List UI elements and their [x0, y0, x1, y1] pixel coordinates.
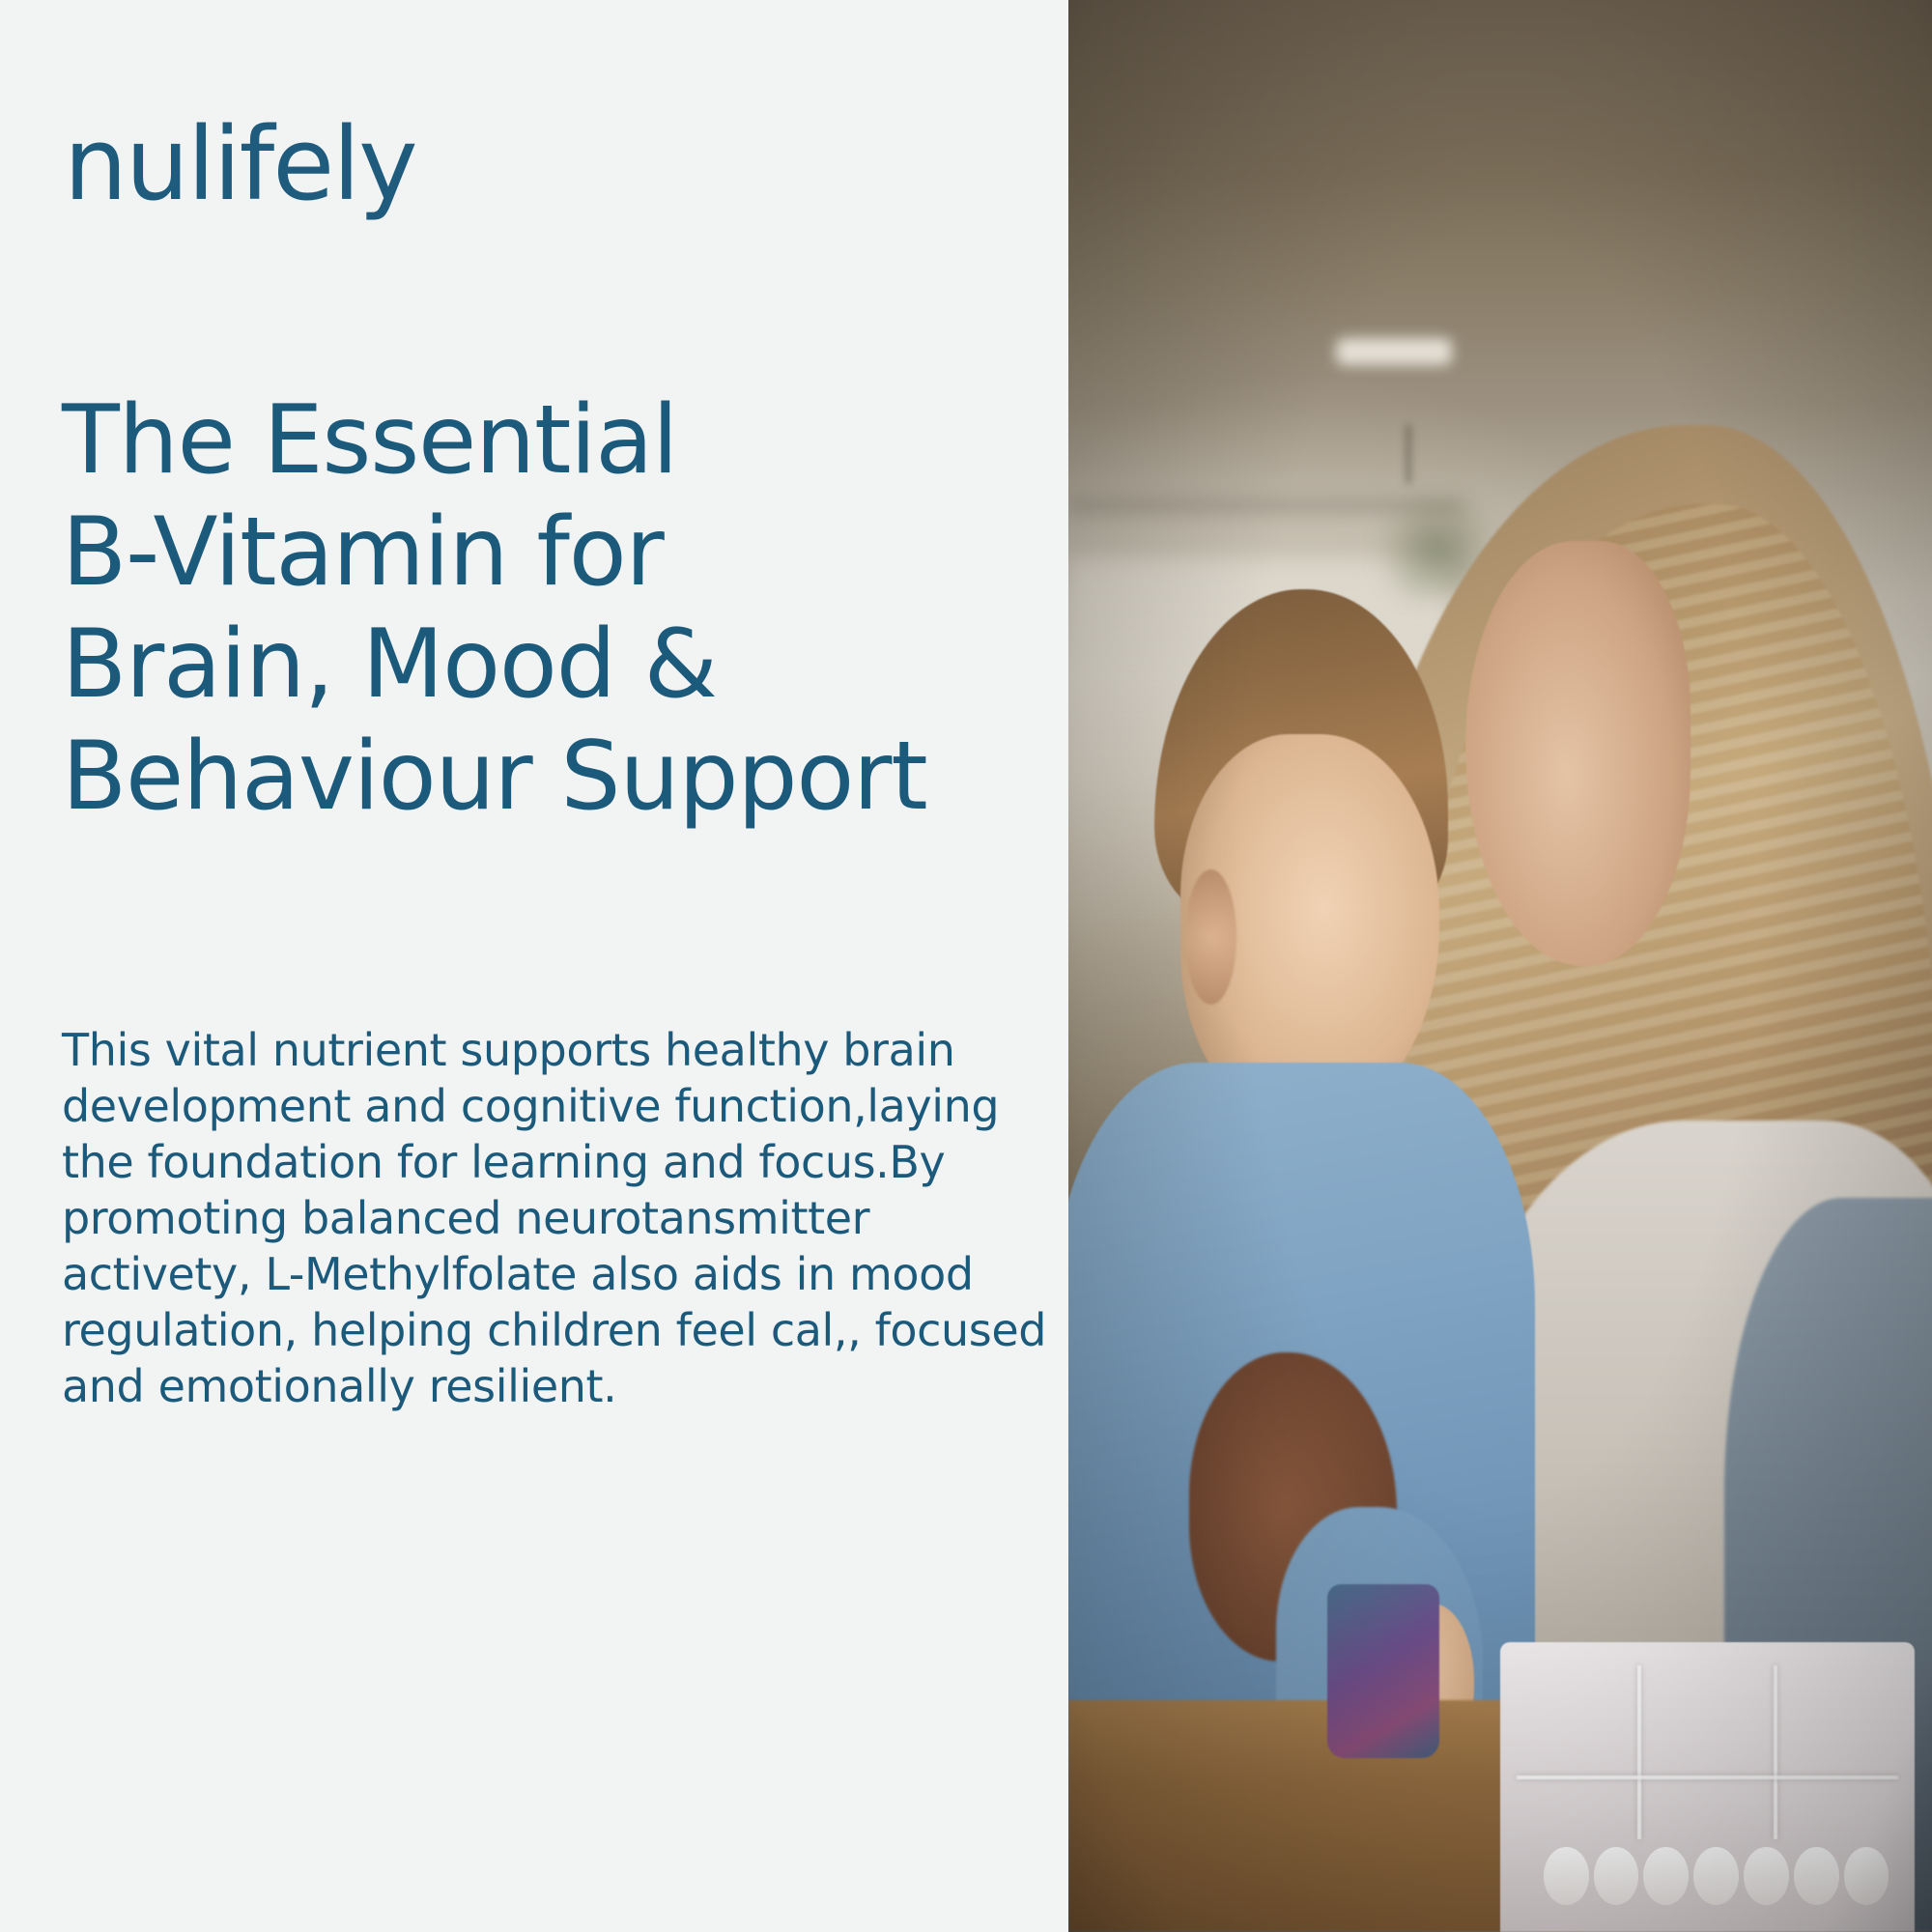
pill-row	[1544, 1847, 1889, 1905]
mother-face	[1465, 541, 1690, 966]
pill	[1693, 1847, 1739, 1905]
text-panel: nulifely The Essential B-Vitamin for Bra…	[0, 0, 1068, 1932]
marketing-poster: nulifely The Essential B-Vitamin for Bra…	[0, 0, 1932, 1932]
body-line-3: the foundation for learning and focus.By	[62, 1134, 1037, 1190]
pill	[1544, 1847, 1589, 1905]
body-line-4: promoting balanced neurotansmitter	[62, 1190, 1037, 1246]
pill	[1643, 1847, 1689, 1905]
headline-line-4: Behaviour Support	[62, 721, 1028, 833]
tray-divider-1	[1637, 1665, 1641, 1839]
pill	[1744, 1847, 1789, 1905]
page-title: The Essential B-Vitamin for Brain, Mood …	[62, 384, 1028, 833]
headline-line-2: B-Vitamin for	[62, 497, 1028, 609]
ceiling-light	[1336, 338, 1452, 365]
tray-divider-2	[1774, 1665, 1777, 1839]
body-line-5: activety, L-Methylfolate also aids in mo…	[62, 1246, 1037, 1302]
headline-line-3: Brain, Mood &	[62, 609, 1028, 721]
body-line-6: regulation, helping children feel cal,, …	[62, 1302, 1037, 1358]
body-line-7: and emotionally resilient.	[62, 1358, 1037, 1414]
lifestyle-photo	[1068, 0, 1932, 1932]
pill	[1594, 1847, 1639, 1905]
pendant-cord	[1406, 425, 1411, 483]
body-line-1: This vital nutrient supports healthy bra…	[62, 1022, 1037, 1078]
headline-line-1: The Essential	[62, 384, 1028, 497]
photo-panel	[1068, 0, 1932, 1932]
boy-ear	[1185, 869, 1237, 1005]
tray-divider-3	[1517, 1776, 1898, 1779]
brand-logo: nulifely	[64, 114, 416, 214]
body-line-2: development and cognitive function,layin…	[62, 1078, 1037, 1134]
pill	[1794, 1847, 1839, 1905]
patterned-cup	[1327, 1584, 1439, 1758]
pill	[1844, 1847, 1889, 1905]
body-paragraph: This vital nutrient supports healthy bra…	[62, 1022, 1037, 1414]
